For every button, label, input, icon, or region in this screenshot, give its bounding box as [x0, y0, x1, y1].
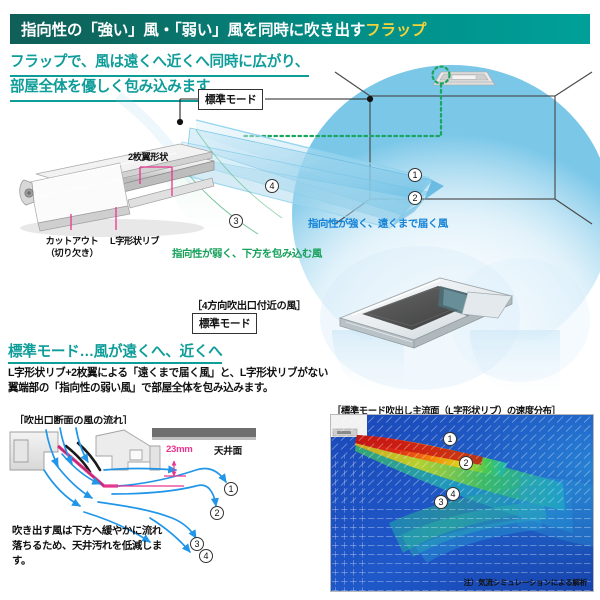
standard-mode-body: L字形状リブ+2枚翼による「遠くまで届く風」と、L字形状リブがない翼端部の「指向… — [8, 366, 330, 396]
dimension-label-23mm: 23mm — [166, 444, 193, 455]
cross-section-housing — [10, 430, 148, 470]
marker-1-xsec: 1 — [224, 482, 238, 496]
infographic-page: 指向性の「強い」風・「弱い」風を同時に吹き出すフラップ フラップで、風は遠くへ近… — [0, 0, 600, 600]
cross-section-note: 吹き出す風は下方へ緩やかに流れ落ちるため、天井汚れを低減します。 — [12, 524, 162, 569]
cross-section-l-rib — [58, 446, 118, 486]
marker-4-cfd: 4 — [446, 487, 460, 501]
cross-section-blade — [66, 443, 100, 472]
label-cutout-line2: （切り欠き） — [46, 248, 99, 258]
cfd-panel-note: 注）気流シミュレーションによる解析 — [464, 577, 587, 588]
marker-2-cfd: 2 — [459, 456, 473, 470]
label-cutout-line1: カットアウト — [46, 236, 99, 246]
top-illustration — [0, 0, 600, 340]
unit-photo-mode-box: 標準モード — [192, 313, 257, 334]
label-two-blade: 2枚翼形状 — [128, 152, 168, 164]
ceiling-surface-label: 天井面 — [214, 443, 242, 457]
cfd-velocity-field — [331, 415, 593, 591]
unit-photo-bracket-label: ［4方向吹出口付近の風］ — [192, 297, 306, 312]
mode-callout-box: 標準モード — [198, 89, 263, 110]
unit-photo-mode-label: 標準モード — [192, 313, 257, 334]
mode-callout-label: 標準モード — [198, 89, 263, 110]
caption-weak-airflow: 指向性が弱く、下方を包み込む風 — [172, 245, 322, 260]
dimension-marker — [118, 461, 186, 486]
label-l-rib: L字形状リブ — [110, 236, 159, 248]
cfd-velocity-panel: 注）気流シミュレーションによる解析 — [330, 414, 594, 592]
marker-2-xsec: 2 — [210, 506, 224, 520]
marker-4-room: 4 — [265, 179, 279, 193]
marker-4-xsec: 4 — [199, 549, 213, 563]
standard-mode-heading-text: 標準モード…風が遠くへ、近くへ — [8, 340, 222, 364]
marker-3-room: 3 — [229, 214, 243, 228]
caption-strong-airflow: 指向性が強く、遠くまで届く風 — [308, 215, 448, 230]
flap-part-drawing — [20, 144, 214, 237]
standard-mode-heading: 標準モード…風が遠くへ、近くへ — [8, 340, 338, 364]
cross-section-housing-right — [96, 430, 160, 470]
label-cutout: カットアウト （切り欠き） — [43, 236, 101, 259]
marker-1-cfd: 1 — [443, 432, 457, 446]
cross-section-bracket-label: ［吹出口断面の風の流れ］ — [14, 412, 133, 427]
marker-2-room: 2 — [408, 191, 422, 205]
marker-1-room: 1 — [408, 168, 422, 182]
